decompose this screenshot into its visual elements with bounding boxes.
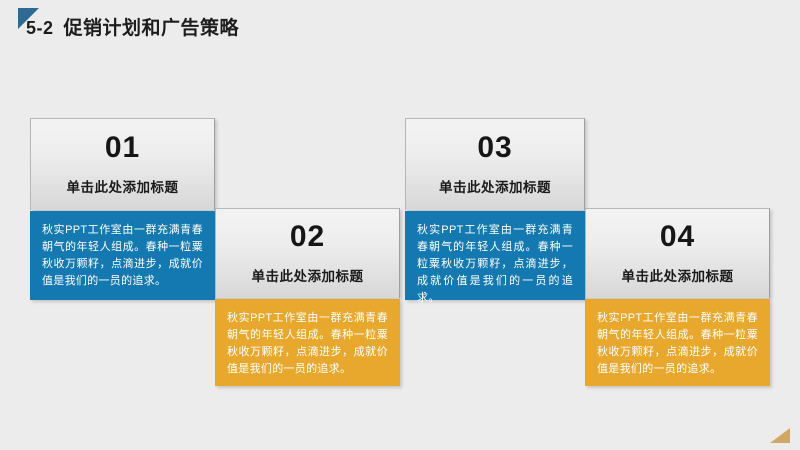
card-header-04: 04 单击此处添加标题: [585, 208, 770, 298]
card-number-02: 02: [290, 222, 325, 252]
content-card-02[interactable]: 02 单击此处添加标题 秋实PPT工作室由一群充满青春朝气的年轻人组成。春种一粒…: [215, 208, 400, 386]
card-body-02[interactable]: 秋实PPT工作室由一群充满青春朝气的年轻人组成。春种一粒粟秋收万颗籽，点滴进步，…: [215, 299, 400, 386]
card-subtitle-03[interactable]: 单击此处添加标题: [439, 176, 551, 196]
card-number-01: 01: [105, 133, 140, 163]
card-header-01: 01 单击此处添加标题: [30, 118, 215, 210]
card-number-03: 03: [477, 133, 512, 163]
section-number: 5-2: [26, 18, 54, 38]
section-title: 促销计划和广告策略: [64, 18, 240, 39]
content-card-04[interactable]: 04 单击此处添加标题 秋实PPT工作室由一群充满青春朝气的年轻人组成。春种一粒…: [585, 208, 770, 386]
card-subtitle-01[interactable]: 单击此处添加标题: [67, 176, 179, 196]
content-card-03[interactable]: 03 单击此处添加标题 秋实PPT工作室由一群充满青春朝气的年轻人组成。春种一粒…: [405, 118, 585, 300]
page-title: 5-2促销计划和广告策略: [26, 13, 239, 40]
corner-triangle-bottom-right-icon: [770, 428, 790, 443]
card-header-02: 02 单击此处添加标题: [215, 208, 400, 298]
slide-header: 5-2促销计划和广告策略: [0, 0, 800, 52]
card-body-04[interactable]: 秋实PPT工作室由一群充满青春朝气的年轻人组成。春种一粒粟秋收万颗籽，点滴进步，…: [585, 299, 770, 386]
card-number-04: 04: [660, 222, 695, 252]
card-subtitle-04[interactable]: 单击此处添加标题: [622, 265, 734, 285]
card-body-01[interactable]: 秋实PPT工作室由一群充满青春朝气的年轻人组成。春种一粒粟秋收万颗籽，点滴进步，…: [30, 211, 215, 300]
card-subtitle-02[interactable]: 单击此处添加标题: [252, 265, 364, 285]
card-body-03[interactable]: 秋实PPT工作室由一群充满青春朝气的年轻人组成。春种一粒粟秋收万颗籽，点滴进步，…: [405, 211, 585, 300]
content-card-01[interactable]: 01 单击此处添加标题 秋实PPT工作室由一群充满青春朝气的年轻人组成。春种一粒…: [30, 118, 215, 300]
card-header-03: 03 单击此处添加标题: [405, 118, 585, 210]
